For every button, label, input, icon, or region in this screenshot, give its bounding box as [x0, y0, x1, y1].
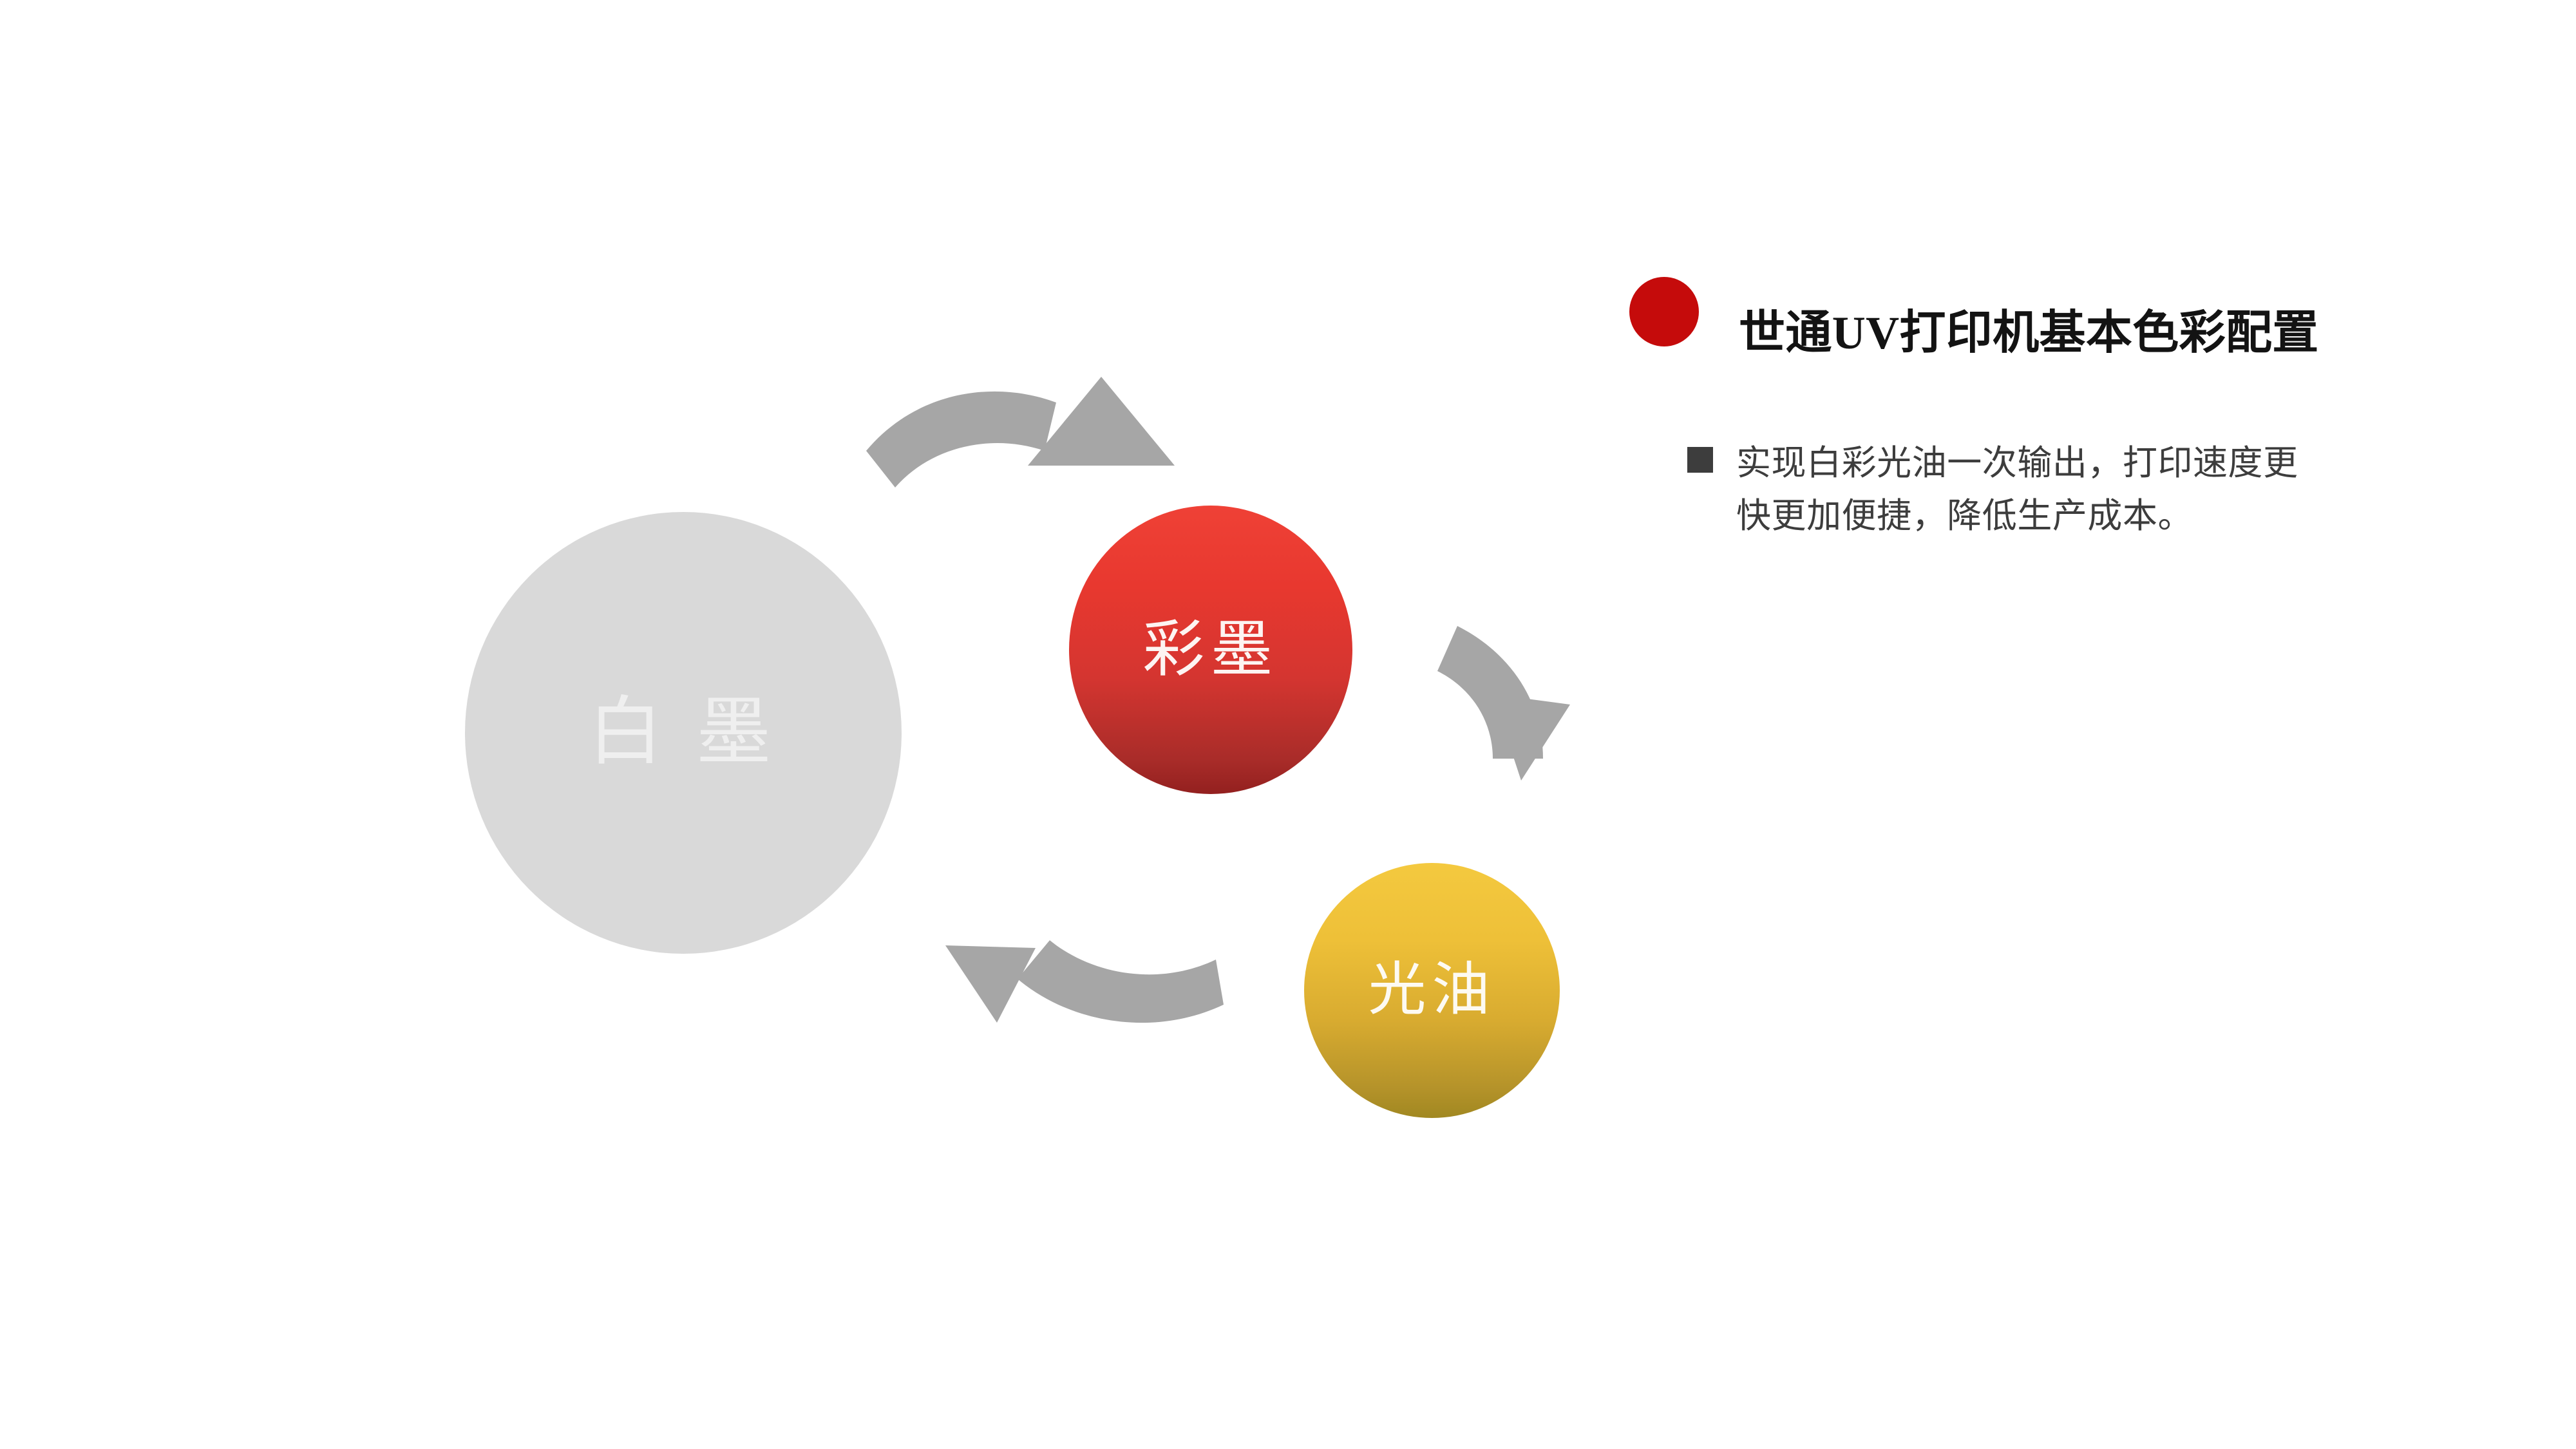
- node-white-ink[interactable]: 白 墨: [465, 512, 902, 954]
- node-color-ink-label: 彩墨: [1142, 619, 1278, 681]
- slide-canvas: 白 墨 彩墨 光油 世通UV打印机基本色彩配置 实现白彩光油一次输出，打印速度更…: [0, 0, 2576, 1449]
- bullet-list-item: 实现白彩光油一次输出，打印速度更快更加便捷，降低生产成本。: [1629, 437, 2454, 542]
- arrow-color-to-varnish-icon: [1437, 626, 1570, 781]
- arrow-white-to-color-icon: [866, 377, 1175, 488]
- node-white-ink-label: 白 墨: [588, 696, 779, 770]
- text-panel: 世通UV打印机基本色彩配置 实现白彩光油一次输出，打印速度更快更加便捷，降低生产…: [1629, 270, 2454, 577]
- panel-title-row: 世通UV打印机基本色彩配置: [1629, 270, 2454, 354]
- node-color-ink[interactable]: 彩墨: [1069, 506, 1352, 794]
- node-varnish-label: 光油: [1368, 961, 1496, 1019]
- square-bullet-icon: [1687, 447, 1713, 473]
- page-title: 世通UV打印机基本色彩配置: [1739, 309, 2319, 358]
- cycle-diagram: 白 墨 彩墨 光油: [0, 0, 1610, 1449]
- bullet-item-text: 实现白彩光油一次输出，打印速度更快更加便捷，降低生产成本。: [1736, 437, 2316, 542]
- arrow-varnish-to-white-icon: [945, 940, 1224, 1023]
- node-varnish[interactable]: 光油: [1304, 863, 1560, 1118]
- red-dot-icon: [1629, 277, 1699, 346]
